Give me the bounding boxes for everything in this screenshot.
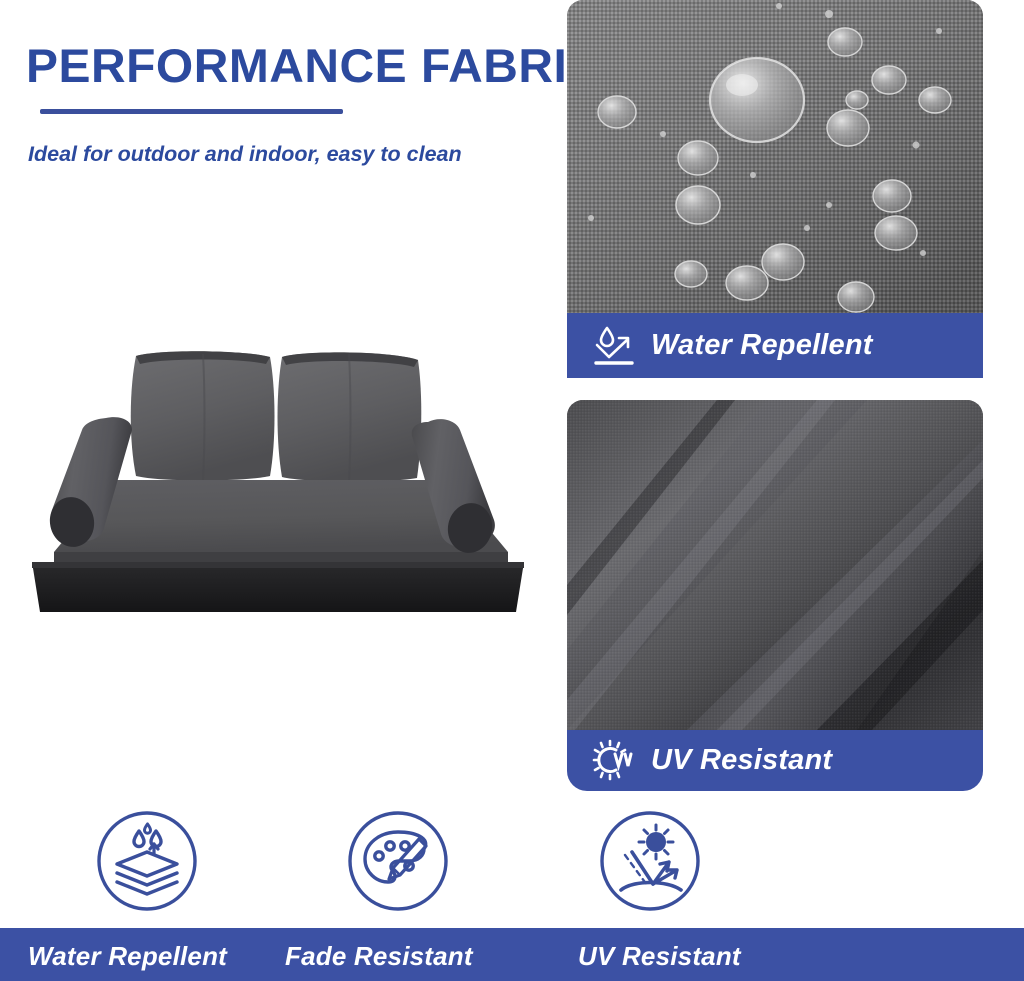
uv-sun-icon	[589, 738, 641, 784]
water-beading-on-fabric-photo	[567, 0, 983, 313]
banner-label-water-repellent: Water Repellent	[651, 329, 873, 362]
water-droplets-layers-icon	[92, 806, 202, 916]
feature-icon-row	[0, 806, 1024, 926]
back-pillow-left	[131, 351, 275, 480]
feature-icon-uv-resistant	[595, 806, 705, 916]
strip-label-water-repellent: Water Repellent	[28, 941, 227, 972]
strip-label-fade-resistant: Fade Resistant	[285, 941, 473, 972]
strip-label-uv-resistant: UV Resistant	[578, 941, 741, 972]
large-water-drop	[710, 58, 804, 142]
banner-label-uv-resistant: UV Resistant	[651, 744, 832, 777]
fabric-folds-graphic	[567, 400, 983, 730]
daybed-cushion-illustration	[8, 330, 556, 625]
water-droplet-repel-icon	[589, 323, 641, 369]
infographic-canvas: PERFORMANCE FABRICS Ideal for outdoor an…	[0, 0, 1024, 981]
title-divider	[40, 109, 343, 114]
feature-icon-water-repellent	[92, 806, 202, 916]
fabric-water-drops-graphic	[567, 0, 983, 313]
paint-palette-icon	[343, 806, 453, 916]
cushion-base	[32, 562, 524, 612]
panel-water-repellent: Water Repellent	[567, 0, 983, 380]
banner-uv-resistant: UV Resistant	[567, 730, 983, 791]
banner-water-repellent: Water Repellent	[567, 313, 983, 378]
feature-icon-fade-resistant	[343, 806, 453, 916]
draped-gray-fabric-folds-photo	[567, 400, 983, 730]
sun-reflect-surface-icon	[595, 806, 705, 916]
bottom-feature-strip: Water Repellent Fade Resistant UV Resist…	[0, 928, 1024, 981]
page-subtitle: Ideal for outdoor and indoor, easy to cl…	[28, 142, 462, 167]
back-pillow-right	[278, 352, 422, 481]
page-title: PERFORMANCE FABRICS	[26, 38, 635, 93]
product-photo	[8, 330, 556, 625]
panel-uv-resistant: UV Resistant	[567, 400, 983, 791]
